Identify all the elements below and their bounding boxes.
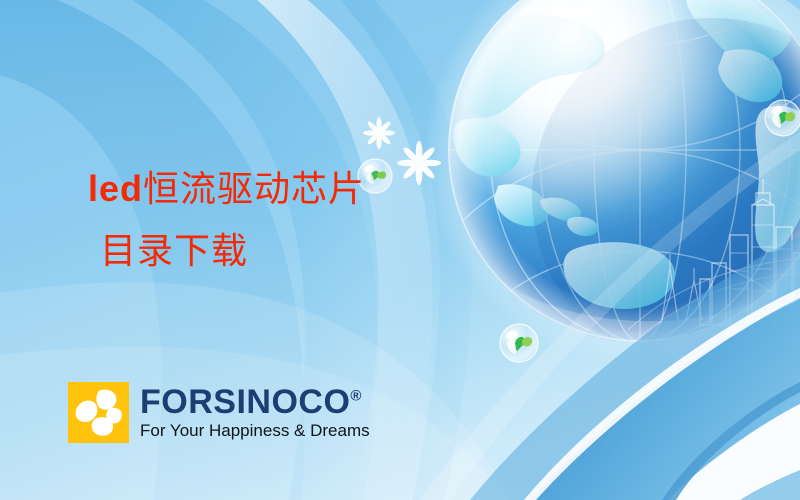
bubble-seedling-right (765, 100, 800, 136)
bubble-seedling-bottom (500, 324, 538, 362)
headline-latin: led (88, 168, 143, 209)
headline-line-2: 目录下载 (100, 230, 248, 272)
headline-cjk: 恒流驱动芯片 (143, 169, 365, 209)
flower-mark-svg (68, 382, 129, 443)
logo-wordmark: FORSINOCO® (140, 385, 370, 419)
logo-tagline: For Your Happiness & Dreams (140, 421, 370, 440)
four-petal-flower-icon (68, 382, 129, 443)
logo-text-block: FORSINOCO® For Your Happiness & Dreams (140, 385, 370, 440)
headline-line-1: led恒流驱动芯片 (88, 168, 365, 210)
marketing-banner: led恒流驱动芯片 目录下载 FORSINOCO® For Your Happi… (0, 0, 800, 500)
registered-trademark-icon: ® (350, 388, 362, 405)
logo-wordmark-text: FORSINOCO (140, 383, 350, 421)
brand-logo: FORSINOCO® For Your Happiness & Dreams (68, 382, 370, 443)
